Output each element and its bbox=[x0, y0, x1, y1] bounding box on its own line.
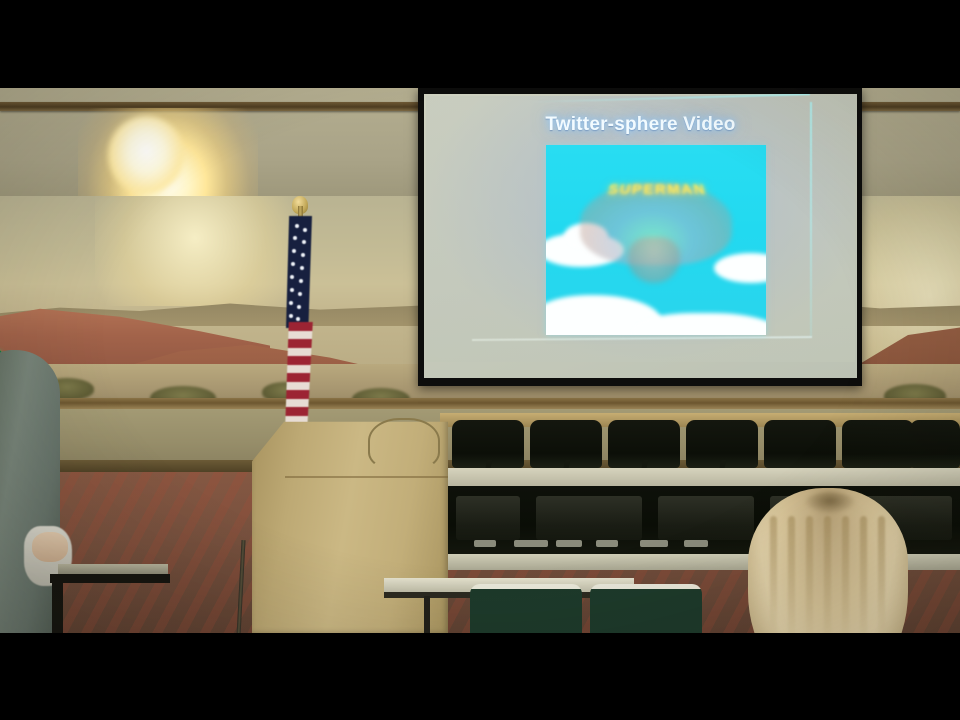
letterbox-bar-top bbox=[0, 0, 960, 88]
rear-chair bbox=[764, 420, 836, 468]
slide-border-top-accent bbox=[530, 94, 810, 103]
podium-panel-seam bbox=[285, 476, 448, 478]
presenter-left bbox=[0, 350, 78, 633]
desk-nameplate bbox=[474, 540, 496, 547]
seated-audience-member bbox=[710, 488, 938, 633]
rear-bench-shelf bbox=[440, 468, 960, 488]
sconce-bulb-glow bbox=[108, 116, 184, 194]
embedded-video-clip[interactable]: SUPERMAN bbox=[546, 145, 766, 335]
projected-slide: Twitter-sphere Video SUPERMAN bbox=[426, 96, 855, 362]
projection-screen[interactable]: Twitter-sphere Video SUPERMAN bbox=[418, 88, 862, 386]
slide-title: Twitter-sphere Video bbox=[426, 114, 855, 136]
microphone-cable-loop bbox=[368, 418, 440, 470]
letterbox-bar-bottom bbox=[0, 633, 960, 720]
desk-nameplate bbox=[596, 540, 618, 547]
desk-nameplate bbox=[684, 540, 708, 547]
desk-nameplate bbox=[514, 540, 548, 547]
flag-union-field bbox=[286, 216, 312, 328]
presenter-torso bbox=[0, 350, 60, 633]
video-player-stage: Twitter-sphere Video SUPERMAN bbox=[0, 0, 960, 720]
desk-nameplate bbox=[556, 540, 582, 547]
slide-border-bottom-accent bbox=[472, 336, 812, 340]
logo-lower-shape bbox=[628, 237, 680, 283]
left-foreground-table bbox=[58, 564, 168, 574]
front-chair[interactable] bbox=[590, 584, 702, 633]
front-chair[interactable] bbox=[470, 584, 582, 633]
projection-screen-surface: Twitter-sphere Video SUPERMAN bbox=[424, 94, 857, 378]
left-table-leg bbox=[52, 580, 63, 633]
video-frame-content: Twitter-sphere Video SUPERMAN bbox=[0, 88, 960, 633]
rear-chair bbox=[842, 420, 914, 468]
audience-member-hair-part bbox=[804, 492, 856, 514]
mural-sun-glow-left bbox=[95, 196, 295, 306]
rear-chair bbox=[910, 420, 960, 468]
desk-nameplate bbox=[640, 540, 668, 547]
logo-text: SUPERMAN bbox=[577, 178, 737, 203]
slide-border-right-accent bbox=[810, 102, 812, 337]
left-table-edge bbox=[50, 574, 170, 583]
desk-panel bbox=[536, 496, 642, 540]
presenter-hand bbox=[32, 532, 68, 562]
chair-rail-molding bbox=[0, 398, 960, 409]
front-table-leg bbox=[424, 596, 430, 633]
united-states-flag bbox=[282, 216, 316, 424]
flag-stripes bbox=[284, 322, 314, 424]
cloud bbox=[714, 253, 766, 283]
desk-panel bbox=[456, 496, 520, 540]
